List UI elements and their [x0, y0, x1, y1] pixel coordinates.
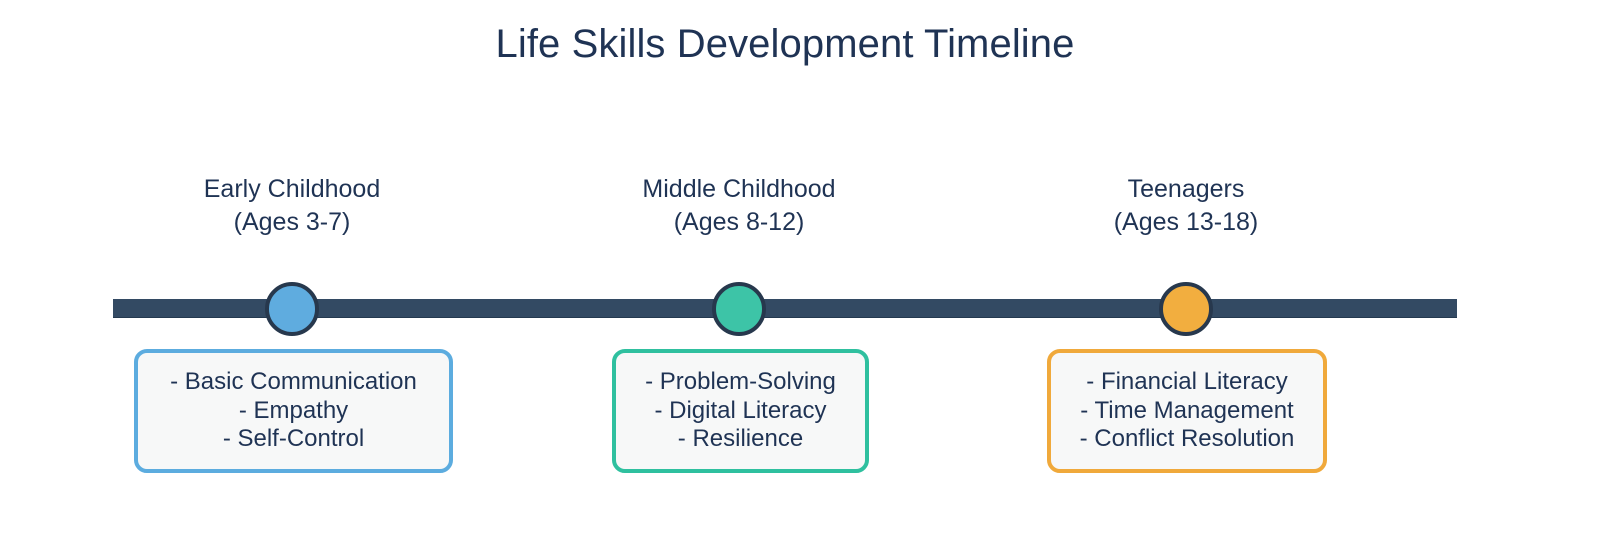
stage-label: Teenagers	[1128, 175, 1245, 203]
stage-age-range: (Ages 13-18)	[926, 206, 1446, 239]
skill-item: - Financial Literacy	[1080, 368, 1295, 397]
stage-age-range: (Ages 3-7)	[32, 206, 552, 239]
stage-skills-list: - Financial Literacy - Time Management -…	[1080, 368, 1295, 454]
stage-skills-list: - Problem-Solving - Digital Literacy - R…	[645, 368, 836, 454]
skill-item: - Resilience	[645, 425, 836, 454]
timeline-node-marker[interactable]	[712, 282, 766, 336]
page-title: Life Skills Development Timeline	[0, 22, 1570, 66]
skill-item: - Self-Control	[170, 425, 417, 454]
stage-label-group: Middle Childhood (Ages 8-12)	[479, 173, 999, 239]
stage-skills-card[interactable]: - Problem-Solving - Digital Literacy - R…	[612, 349, 869, 473]
stage-age-range: (Ages 8-12)	[479, 206, 999, 239]
skill-item: - Empathy	[170, 397, 417, 426]
stage-skills-list: - Basic Communication - Empathy - Self-C…	[170, 368, 417, 454]
stage-skills-card[interactable]: - Financial Literacy - Time Management -…	[1047, 349, 1327, 473]
skill-item: - Time Management	[1080, 397, 1295, 426]
timeline-node-marker[interactable]	[265, 282, 319, 336]
skill-item: - Digital Literacy	[645, 397, 836, 426]
skill-item: - Problem-Solving	[645, 368, 836, 397]
timeline-node-marker[interactable]	[1159, 282, 1213, 336]
skill-item: - Basic Communication	[170, 368, 417, 397]
stage-label-group: Early Childhood (Ages 3-7)	[32, 173, 552, 239]
skill-item: - Conflict Resolution	[1080, 425, 1295, 454]
stage-skills-card[interactable]: - Basic Communication - Empathy - Self-C…	[134, 349, 453, 473]
timeline-canvas: Life Skills Development Timeline Early C…	[0, 0, 1600, 536]
stage-label-group: Teenagers (Ages 13-18)	[926, 173, 1446, 239]
stage-label: Middle Childhood	[642, 175, 835, 203]
stage-label: Early Childhood	[204, 175, 381, 203]
